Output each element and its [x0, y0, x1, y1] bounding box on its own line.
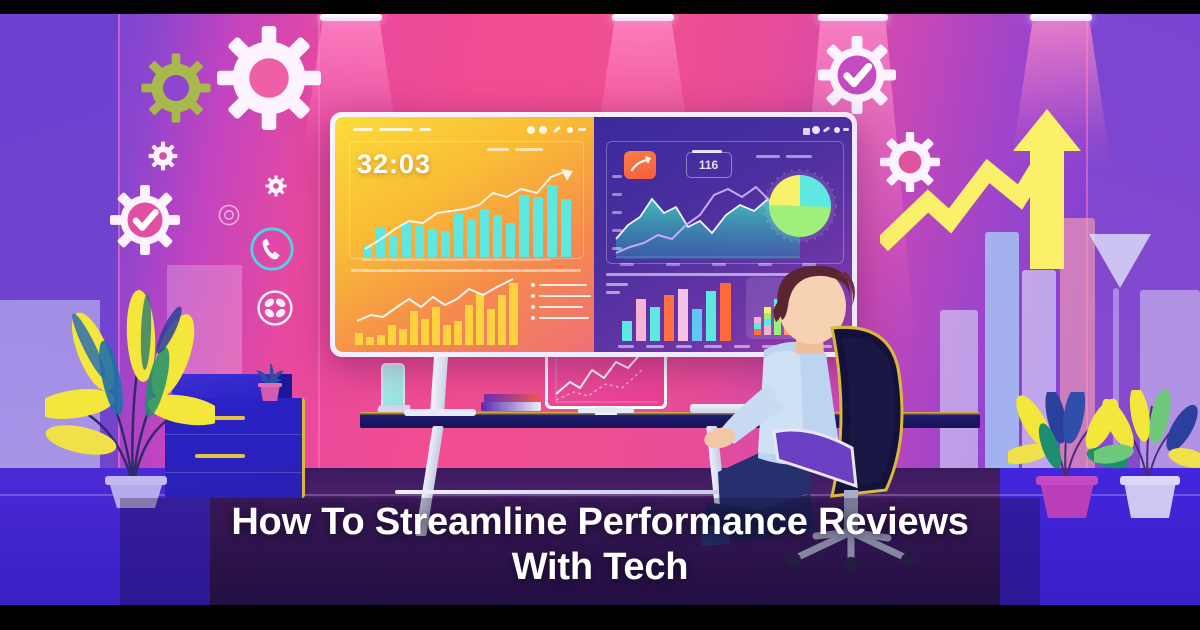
card-label-1 [487, 148, 509, 151]
pie-dial-ring [761, 167, 839, 245]
book-top [484, 394, 540, 402]
toolbar-pill-1 [353, 128, 373, 131]
more-icon-right[interactable] [843, 128, 849, 131]
toolbar-pill-3 [419, 128, 431, 131]
phone-circle-icon [248, 225, 296, 273]
axis-line-left [361, 259, 551, 261]
card-label-2 [515, 148, 543, 151]
dashboard-left-column: 32:03 [335, 117, 594, 352]
toolbar-pill-2 [379, 128, 413, 131]
plant-left-large [45, 270, 215, 510]
edit-icon[interactable] [553, 126, 561, 133]
gear-check-icon-right [818, 36, 896, 114]
legend-tag-2 [786, 155, 812, 158]
page-title-line-1: How To Streamline Performance Reviews [0, 500, 1200, 545]
divider-right-3 [606, 291, 620, 294]
spotlight-fixture-4 [1030, 14, 1092, 21]
grid-icon[interactable] [527, 126, 535, 134]
circle-icon[interactable] [539, 126, 547, 134]
edit-icon-right[interactable] [823, 126, 830, 132]
bar-chart-yellow [353, 277, 523, 345]
bell-icon[interactable] [834, 127, 840, 133]
kpi-underline [692, 150, 722, 153]
desk-crossbar [395, 490, 725, 494]
bg-bar-1 [940, 310, 978, 470]
gear-icon-large-white [217, 26, 321, 130]
gear-icon-olive [140, 52, 212, 124]
dashboard-toolbar-left [335, 123, 594, 137]
legend-tag-1 [756, 155, 780, 158]
page-title-line-2: With Tech [0, 545, 1200, 590]
gear-outline-icon [213, 199, 245, 231]
book-bottom [481, 402, 541, 411]
gear-icon-tiny [265, 175, 287, 197]
poster-canvas: 32:03 [0, 0, 1200, 630]
phone-screen [383, 365, 403, 409]
play-triangle-icon [1085, 230, 1155, 292]
plant-left-small [250, 355, 290, 403]
secondary-monitor-base [578, 408, 634, 413]
share-icon[interactable] [567, 127, 573, 133]
layout-icon[interactable] [803, 128, 810, 135]
phone-on-stand[interactable] [381, 363, 405, 411]
dashboard-toolbar-right [594, 123, 853, 137]
spotlight-fixture-3 [818, 14, 888, 21]
letterbox-top [0, 0, 1200, 14]
more-icon[interactable] [578, 128, 586, 131]
gear-icon-small [148, 141, 178, 171]
monitor-stand-base [404, 409, 476, 416]
fan-circle-icon [255, 288, 295, 328]
circle-icon-right[interactable] [812, 126, 820, 134]
divider-left-1 [351, 269, 581, 272]
gear-icon-right [880, 132, 940, 192]
page-title: How To Streamline Performance Reviews Wi… [0, 500, 1200, 590]
letterbox-bottom [0, 605, 1200, 630]
spotlight-fixture-2 [612, 14, 674, 21]
bar-chart-cyan [361, 169, 579, 257]
gear-check-icon [110, 185, 180, 255]
spotlight-fixture-1 [320, 14, 382, 21]
